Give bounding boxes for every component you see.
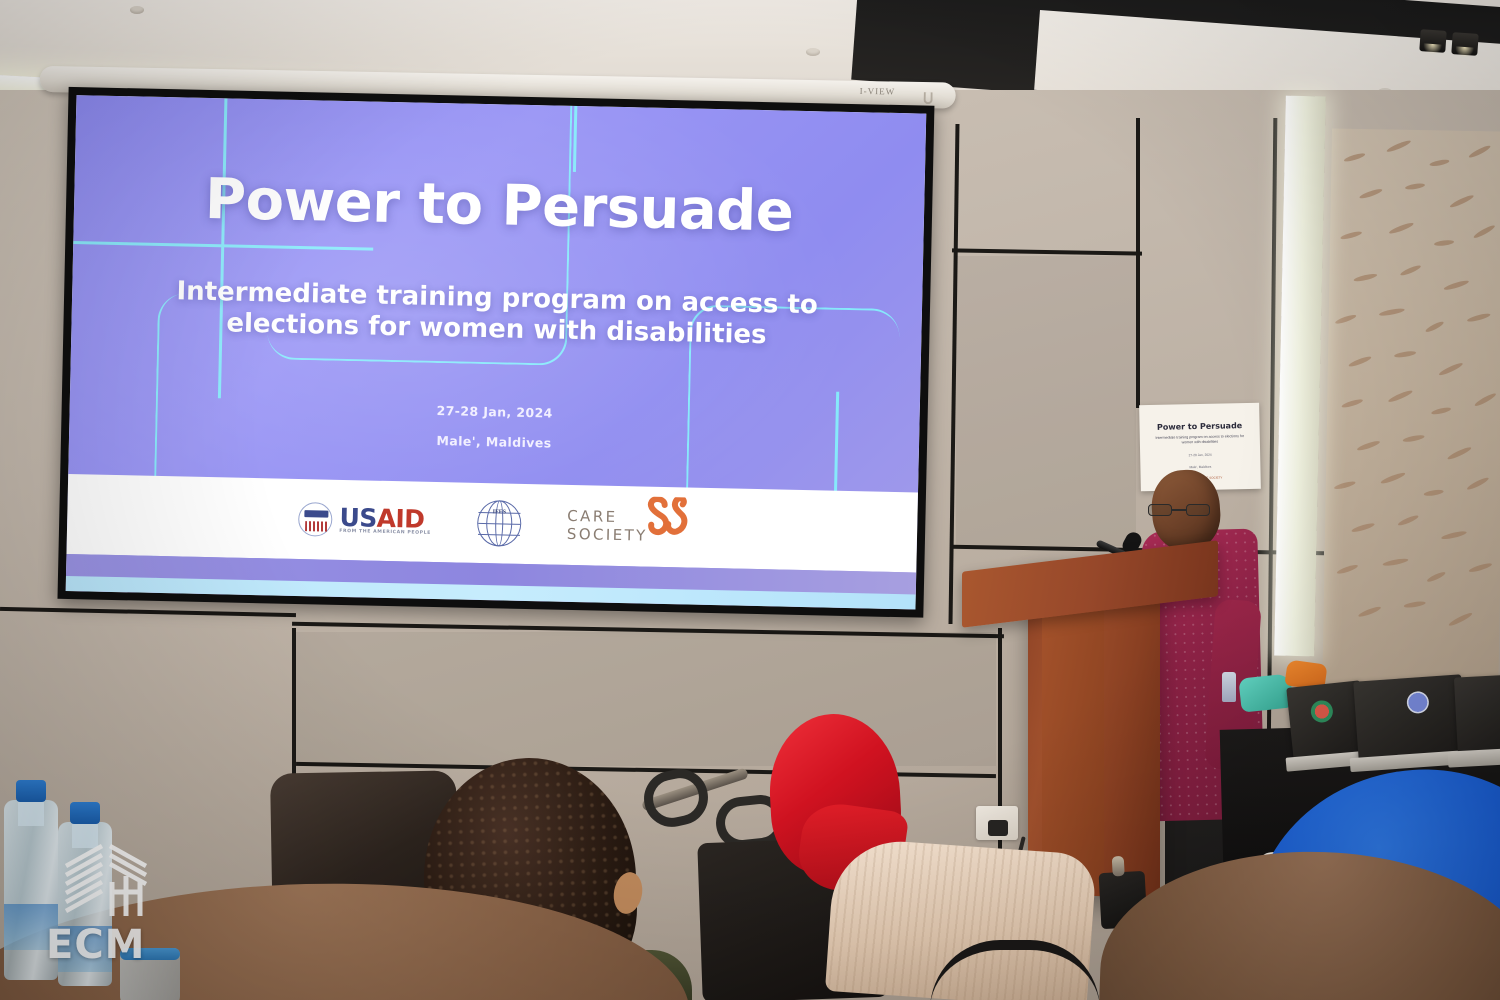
smoke-detector-icon [130, 6, 144, 14]
laptop-sticker-icon [1406, 691, 1429, 714]
screen-hook-icon [924, 92, 933, 104]
presentation-slide: Power to Persuade Intermediate training … [66, 95, 927, 609]
wall-poster-title: Power to Persuade [1139, 421, 1259, 433]
projector-screen: I-VIEW Power to Persuade Intermedi [22, 68, 944, 633]
ifes-letters: IFES [477, 508, 521, 518]
care-society-cs-mark-icon [642, 497, 689, 538]
wall-poster-location: Male', Maldives [1140, 464, 1260, 472]
spotlight-icon [1419, 29, 1446, 53]
podium-front-panel [1042, 591, 1104, 889]
ifes-globe-logo: IFES [477, 500, 522, 547]
bottle-neck [18, 800, 44, 826]
eyeglasses-icon [1148, 504, 1214, 516]
wall-grout-line [1136, 118, 1140, 408]
laptop [1454, 674, 1500, 757]
laptop-keyboard [1448, 748, 1500, 767]
wall-panel-shade [956, 256, 1136, 546]
small-water-bottle [1222, 672, 1236, 702]
ecm-watermark: ECM [46, 828, 174, 968]
care-society-line-2: SOCIETY [567, 525, 648, 545]
screen-frame: Power to Persuade Intermediate training … [57, 87, 934, 618]
usaid-wordmark: USAID FROM THE AMERICAN PEOPLE [339, 506, 431, 536]
eyeglass-bridge [1172, 509, 1186, 511]
usaid-logo: USAID FROM THE AMERICAN PEOPLE [298, 502, 431, 539]
screen-brand-label: I-VIEW [860, 86, 896, 97]
bottle-cap-icon [16, 780, 46, 802]
spotlight-icon [1451, 32, 1478, 56]
wall-poster-date: 27-28 Jan, 2024 [1140, 452, 1260, 460]
wall-panel-shade [296, 632, 996, 766]
wall-poster-subtitle: Intermediate training program on access … [1140, 434, 1260, 447]
slide-deco-line [573, 106, 577, 172]
photo-scene: I-VIEW Power to Persuade Intermedi [0, 0, 1500, 1000]
laptop-sticker-icon [1310, 699, 1334, 723]
ecm-cube-logo [46, 828, 174, 928]
care-society-logo: CARE SOCIETY [567, 507, 687, 546]
usaid-seal-icon [298, 502, 333, 537]
bottle-cap-icon [70, 802, 100, 824]
usaid-tagline: FROM THE AMERICAN PEOPLE [339, 530, 431, 536]
slide-title: Power to Persuade [74, 164, 925, 248]
eyeglass-lens-left [1148, 504, 1172, 516]
care-society-line-1: CARE [567, 507, 618, 526]
ecm-watermark-text: ECM [46, 922, 174, 968]
screen-surface: Power to Persuade Intermediate training … [66, 95, 927, 609]
eyeglass-lens-right [1186, 504, 1210, 516]
smoke-detector-icon [806, 48, 820, 56]
